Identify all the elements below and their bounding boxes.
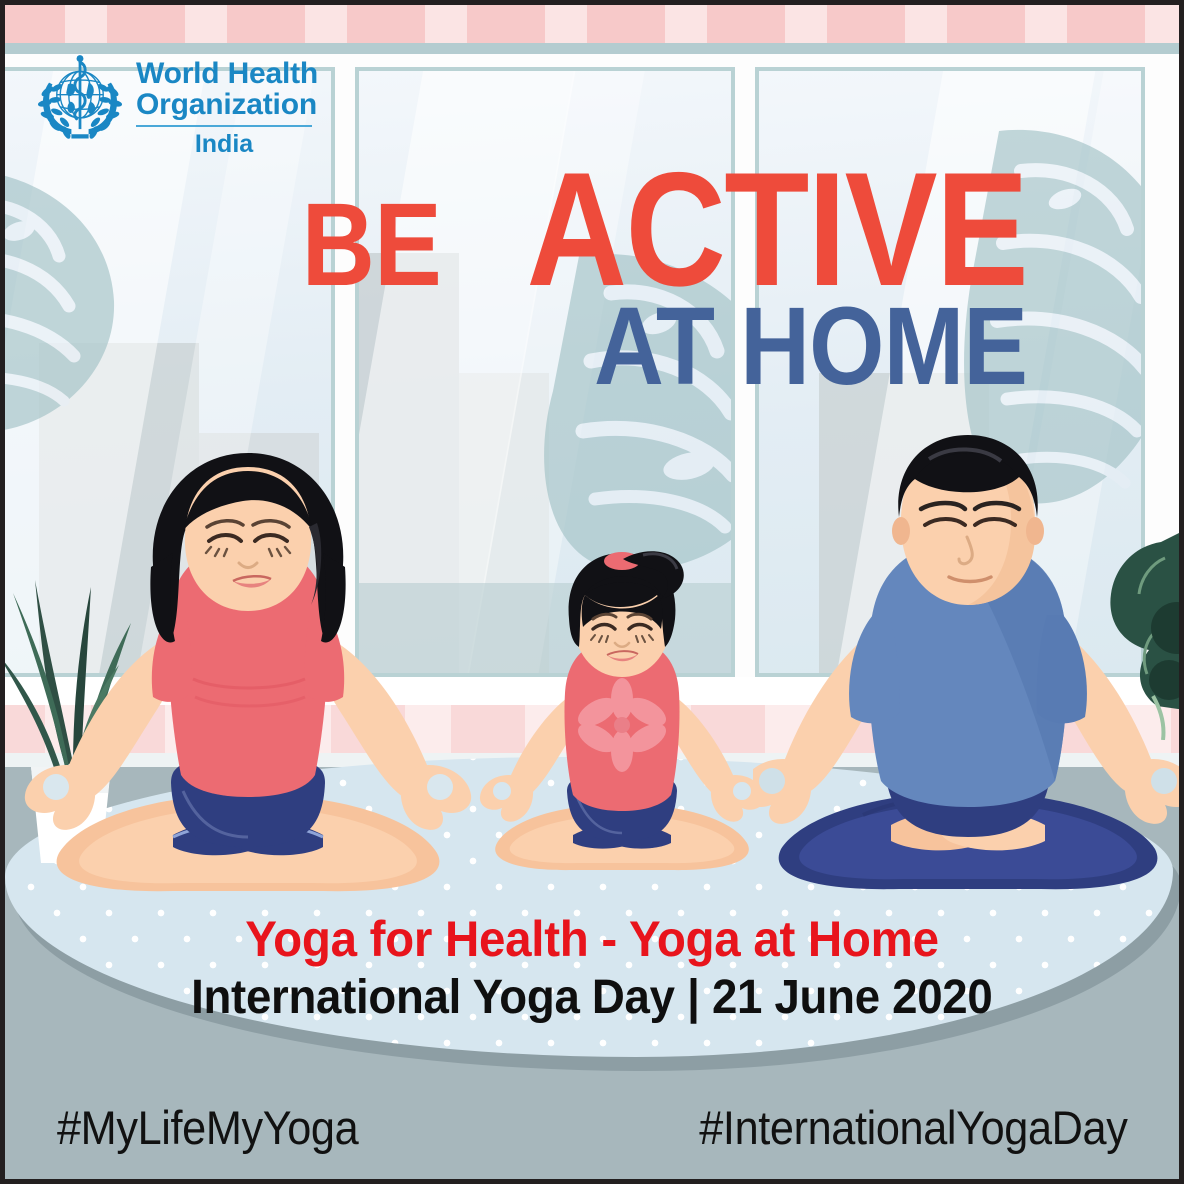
figure-girl: [457, 543, 787, 893]
monstera-leaf-icon: [0, 151, 149, 451]
hashtag-mylifemyyoga: #MyLifeMyYoga: [57, 1100, 358, 1155]
hashtag-row: #MyLifeMyYoga #InternationalYogaDay: [5, 1100, 1179, 1155]
wall-top-stripe: [5, 5, 1179, 43]
caption-block: Yoga for Health - Yoga at Home Internati…: [5, 910, 1179, 1025]
hashtag-internationalyogaday: #InternationalYogaDay: [699, 1100, 1127, 1155]
figure-man: [753, 425, 1183, 895]
who-logo: World Health Organization India: [37, 53, 318, 159]
headline-row-1: BEACTIVE: [279, 157, 1027, 303]
caption-event: International Yoga Day | 21 June 2020: [191, 970, 992, 1025]
who-emblem-icon: [37, 53, 123, 145]
headline-active: ACTIVE: [526, 157, 1027, 303]
who-name-line2: Organization: [136, 90, 318, 121]
caption-tagline: Yoga for Health - Yoga at Home: [245, 910, 939, 968]
poster-canvas: World Health Organization India BEACTIVE…: [0, 0, 1184, 1184]
figure-woman: [23, 435, 473, 895]
headline-at-home: AT HOME: [594, 297, 1027, 396]
who-name-line1: World Health: [136, 59, 318, 90]
who-country-label: India: [136, 130, 312, 159]
headline-be: BE: [302, 192, 441, 298]
headline: BEACTIVE AT HOME: [279, 157, 1027, 396]
headline-row-2: AT HOME: [279, 297, 1027, 396]
logo-divider: [136, 125, 312, 127]
